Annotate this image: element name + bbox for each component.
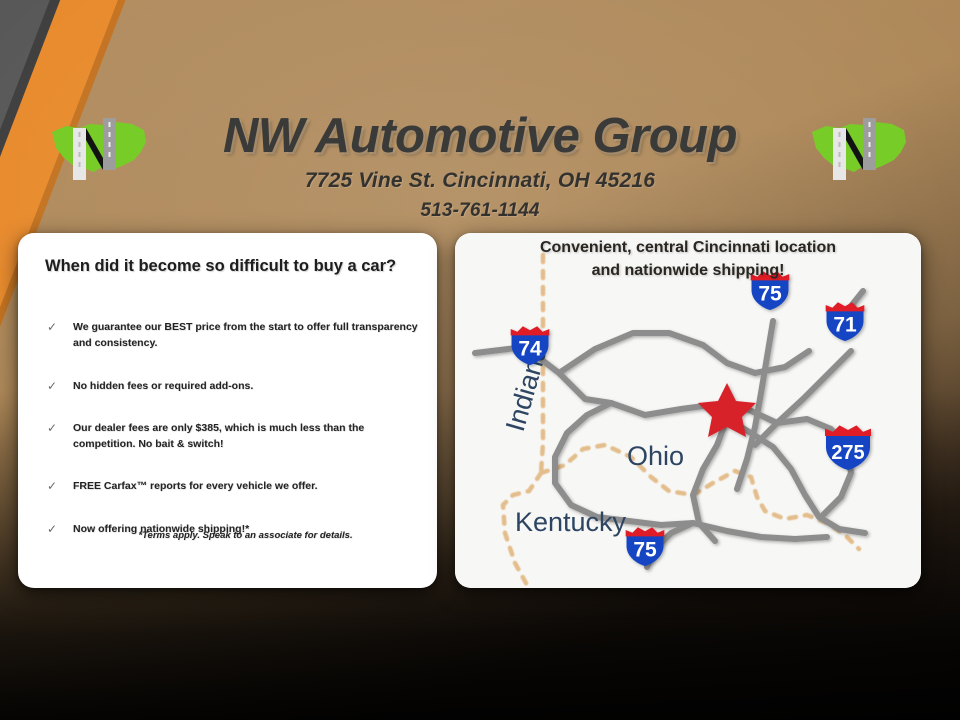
benefit-text: Our dealer fees are only $385, which is …	[73, 422, 364, 450]
benefit-item: ✓FREE Carfax™ reports for every vehicle …	[45, 478, 425, 494]
nw-automotive-logo-right	[806, 110, 912, 184]
check-icon: ✓	[47, 477, 57, 496]
shield-route-number: 75	[633, 538, 657, 561]
interstate-shield-275: 275	[825, 425, 871, 470]
brand-phone: 513-761-1144	[0, 200, 960, 222]
sales-pitch-panel: When did it become so difficult to buy a…	[18, 233, 437, 588]
benefit-item: ✓No hidden fees or required add-ons.	[45, 378, 425, 394]
check-icon: ✓	[47, 377, 57, 396]
benefits-list: ✓We guarantee our BEST price from the st…	[45, 319, 425, 563]
state-label-kentucky: Kentucky	[515, 507, 627, 537]
terms-footnote: *Terms apply. Speak to an associate for …	[18, 530, 437, 541]
regional-map: Indiana Ohio Kentucky 74757127575	[455, 233, 921, 588]
check-icon: ✓	[47, 318, 57, 337]
benefit-text: FREE Carfax™ reports for every vehicle w…	[73, 480, 318, 492]
shield-route-number: 74	[518, 337, 542, 360]
check-icon: ✓	[47, 419, 57, 438]
state-label-ohio: Ohio	[627, 441, 684, 471]
shield-route-number: 275	[831, 442, 864, 464]
benefit-item: ✓Our dealer fees are only $385, which is…	[45, 420, 425, 453]
benefit-text: We guarantee our BEST price from the sta…	[73, 321, 418, 349]
benefit-item: ✓We guarantee our BEST price from the st…	[45, 319, 425, 352]
shield-route-number: 75	[758, 282, 782, 305]
slide-canvas: NW Automotive Group 7725 Vine St. Cincin…	[0, 0, 960, 720]
shield-route-number: 71	[833, 313, 857, 336]
benefit-text: No hidden fees or required add-ons.	[73, 380, 253, 392]
location-map-panel: Indiana Ohio Kentucky 74757127575 Conven…	[455, 233, 921, 588]
pitch-heading: When did it become so difficult to buy a…	[45, 255, 413, 277]
